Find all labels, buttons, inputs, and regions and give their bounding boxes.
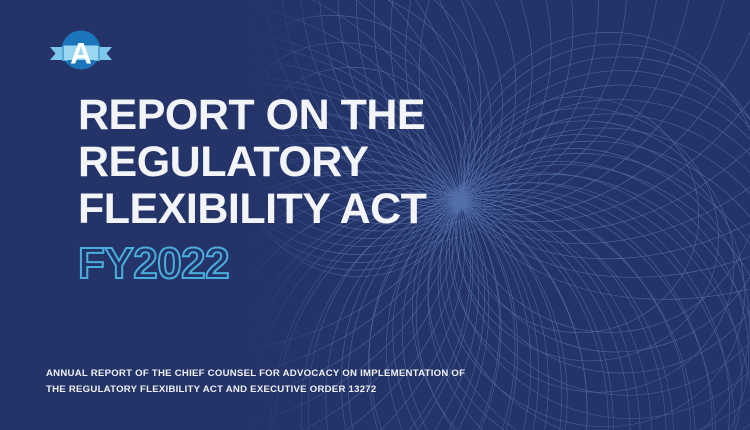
ribbon-left-tail xyxy=(50,47,64,60)
subtitle-line-2: THE REGULATORY FLEXIBILITY ACT AND EXECU… xyxy=(46,382,606,398)
logo-letter-a: A xyxy=(70,38,92,71)
subtitle-line-1: ANNUAL REPORT OF THE CHIEF COUNSEL FOR A… xyxy=(46,366,606,382)
ribbon-right-tail xyxy=(98,47,112,60)
report-cover: A REPORT ON THE REGULATORY FLEXIBILITY A… xyxy=(0,0,750,430)
advocacy-a-logo: A xyxy=(44,27,118,75)
title-line-2: REGULATORY xyxy=(78,139,508,186)
fiscal-year-label: FY2022 xyxy=(78,239,508,289)
report-subtitle: ANNUAL REPORT OF THE CHIEF COUNSEL FOR A… xyxy=(46,366,606,398)
page-title: REPORT ON THE REGULATORY FLEXIBILITY ACT… xyxy=(78,92,508,289)
title-line-3: FLEXIBILITY ACT xyxy=(78,186,508,233)
title-line-1: REPORT ON THE xyxy=(78,92,508,139)
